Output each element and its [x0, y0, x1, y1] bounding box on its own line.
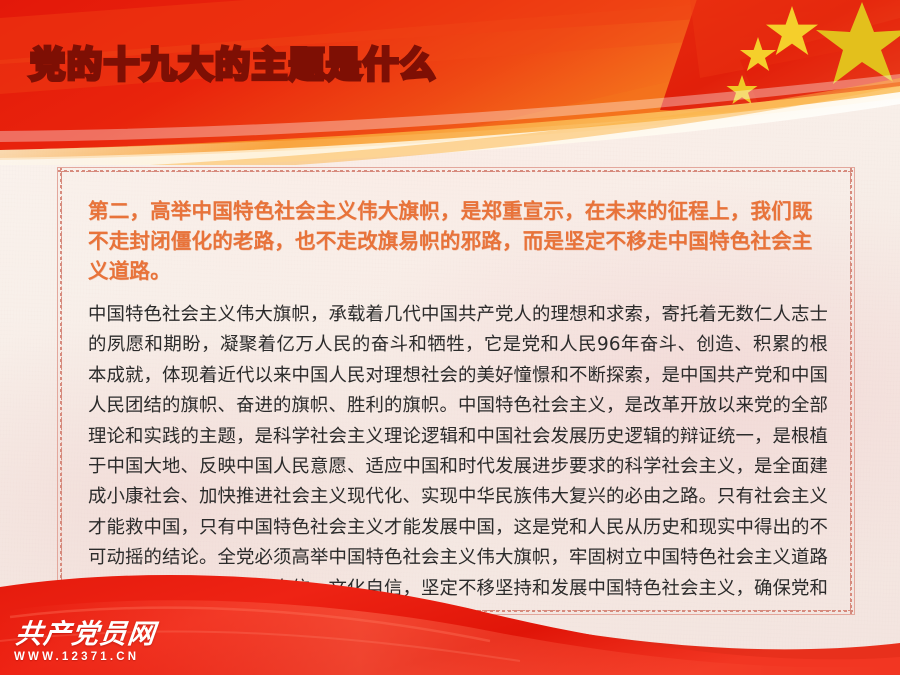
top-banner: 党的十九大的主题是什么 党的十九大的主题是什么 [0, 0, 900, 165]
site-name: 共产党员网 [14, 621, 247, 649]
poster-root: 党的十九大的主题是什么 党的十九大的主题是什么 第二，高举中国特色社会主义伟大旗… [0, 0, 900, 675]
site-url: WWW.12371.CN [14, 651, 244, 663]
page-title: 党的十九大的主题是什么 [30, 49, 437, 84]
footer-logo[interactable]: 共产党员网 WWW.12371.CN [14, 621, 244, 663]
lead-paragraph: 第二，高举中国特色社会主义伟大旗帜，是郑重宣示，在未来的征程上，我们既不走封闭僵… [88, 196, 828, 286]
